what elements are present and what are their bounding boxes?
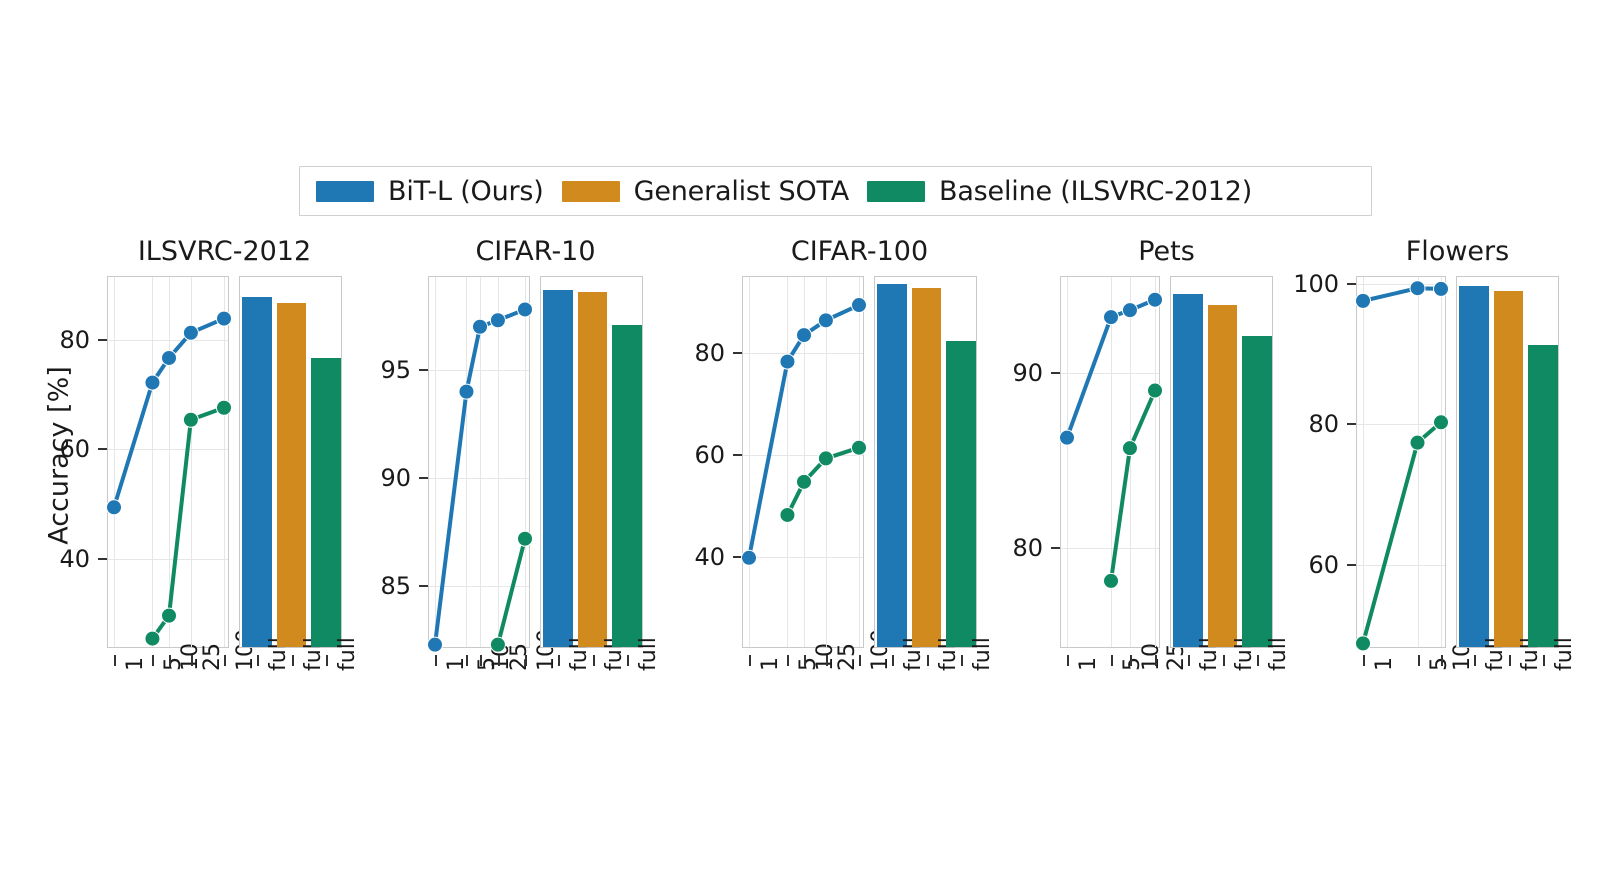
x-tick-mark xyxy=(826,655,828,666)
y-tick-mark xyxy=(419,369,428,371)
series-marker xyxy=(1434,281,1449,296)
x-tick-mark xyxy=(961,655,963,666)
series-marker xyxy=(217,311,232,326)
series-layer xyxy=(108,277,230,649)
series-marker xyxy=(1410,281,1425,296)
panel-title: Pets xyxy=(1060,236,1273,267)
x-tick-mark xyxy=(152,655,154,666)
x-tick-mark xyxy=(627,655,629,666)
y-tick-label: 90 xyxy=(973,359,1043,387)
series-marker xyxy=(518,531,533,546)
bar-axes: fullfullfull xyxy=(239,276,342,648)
series-marker xyxy=(1122,303,1137,318)
x-tick-mark xyxy=(1543,655,1545,666)
bar-axes: fullfullfull xyxy=(874,276,977,648)
panel-ilsvrc-2012: ILSVRC-2012151025100406080fullfullfull xyxy=(107,236,342,696)
series-marker xyxy=(107,500,122,515)
legend-label-generalist-sota: Generalist SOTA xyxy=(634,176,849,207)
series-marker xyxy=(797,474,812,489)
series-layer xyxy=(1357,277,1447,649)
bar-baseline-ilsvrc-2012 xyxy=(612,325,642,647)
x-tick-mark xyxy=(1188,655,1190,666)
series-layer xyxy=(429,277,531,649)
legend-item-generalist-sota[interactable]: Generalist SOTA xyxy=(562,176,849,207)
line-axes: 151025100859095 xyxy=(428,276,530,648)
series-marker xyxy=(1148,292,1163,307)
series-marker xyxy=(183,325,198,340)
series-marker xyxy=(1060,430,1075,445)
bar-axes: fullfullfull xyxy=(1170,276,1273,648)
series-marker xyxy=(818,451,833,466)
bar-baseline-ilsvrc-2012 xyxy=(311,358,341,647)
series-marker xyxy=(518,302,533,317)
bar-axes: fullfullfull xyxy=(1456,276,1559,648)
y-tick-label: 95 xyxy=(341,356,411,384)
y-tick-label: 40 xyxy=(655,543,725,571)
line-axes: 15106080100 xyxy=(1356,276,1446,648)
y-tick-mark xyxy=(733,556,742,558)
bar-bit-l-ours xyxy=(1173,294,1203,647)
bar-bit-l-ours xyxy=(1459,286,1489,647)
y-tick-label: 60 xyxy=(1269,551,1339,579)
series-marker xyxy=(217,400,232,415)
x-tick-mark xyxy=(292,655,294,666)
x-tick-mark xyxy=(257,655,259,666)
x-tick-label: full xyxy=(636,637,661,671)
series-marker xyxy=(780,354,795,369)
x-tick-mark xyxy=(749,655,751,666)
panel-title: ILSVRC-2012 xyxy=(107,236,342,267)
line-axes: 151025100406080 xyxy=(107,276,229,648)
y-tick-label: 60 xyxy=(655,441,725,469)
legend: BiT-L (Ours)Generalist SOTABaseline (ILS… xyxy=(299,166,1372,216)
x-tick-mark xyxy=(191,655,193,666)
series-marker xyxy=(459,384,474,399)
x-tick-label: 1 xyxy=(1076,657,1101,671)
series-marker xyxy=(852,298,867,313)
line-axes: 1510258090 xyxy=(1060,276,1160,648)
x-tick-label: 1 xyxy=(1372,657,1397,671)
y-tick-mark xyxy=(1347,283,1356,285)
y-tick-label: 80 xyxy=(20,326,90,354)
x-tick-mark xyxy=(1223,655,1225,666)
x-tick-mark xyxy=(787,655,789,666)
x-tick-mark xyxy=(1418,655,1420,666)
series-marker xyxy=(780,507,795,522)
series-marker xyxy=(490,313,505,328)
legend-label-bit-l-ours: BiT-L (Ours) xyxy=(388,176,544,207)
x-tick-mark xyxy=(525,655,527,666)
series-marker xyxy=(1410,435,1425,450)
y-tick-mark xyxy=(98,558,107,560)
bar-bit-l-ours xyxy=(242,297,272,647)
series-marker xyxy=(742,550,757,565)
panel-pets: Pets1510258090fullfullfull xyxy=(1060,236,1273,696)
x-tick-mark xyxy=(1111,655,1113,666)
y-tick-mark xyxy=(419,585,428,587)
x-tick-mark xyxy=(1441,655,1443,666)
y-tick-mark xyxy=(733,454,742,456)
y-tick-mark xyxy=(1051,372,1060,374)
y-tick-mark xyxy=(1347,423,1356,425)
bar-axes: fullfullfull xyxy=(540,276,643,648)
bar-baseline-ilsvrc-2012 xyxy=(1242,336,1272,647)
panel-title: Flowers xyxy=(1356,236,1559,267)
x-tick-mark xyxy=(1155,655,1157,666)
series-marker xyxy=(1356,636,1371,651)
bar-generalist-sota xyxy=(912,288,942,647)
bar-baseline-ilsvrc-2012 xyxy=(946,341,976,647)
y-tick-label: 80 xyxy=(655,339,725,367)
panel-title: CIFAR-100 xyxy=(742,236,977,267)
bar-generalist-sota xyxy=(1208,305,1238,647)
y-tick-label: 80 xyxy=(1269,410,1339,438)
series-marker xyxy=(797,328,812,343)
x-tick-label: full xyxy=(335,637,360,671)
line-axes: 151025100406080 xyxy=(742,276,864,648)
series-marker xyxy=(428,637,443,652)
x-tick-label: 1 xyxy=(123,657,148,671)
y-tick-label: 90 xyxy=(341,464,411,492)
x-tick-mark xyxy=(892,655,894,666)
series-marker xyxy=(1104,573,1119,588)
bar-generalist-sota xyxy=(578,292,608,647)
x-tick-mark xyxy=(480,655,482,666)
panel-flowers: Flowers15106080100fullfullfull xyxy=(1356,236,1559,696)
x-tick-mark xyxy=(498,655,500,666)
x-tick-mark xyxy=(169,655,171,666)
y-tick-label: 40 xyxy=(20,545,90,573)
series-marker xyxy=(852,440,867,455)
series-line xyxy=(1363,288,1441,301)
series-marker xyxy=(162,608,177,623)
series-marker xyxy=(473,319,488,334)
x-tick-mark xyxy=(466,655,468,666)
x-tick-mark xyxy=(326,655,328,666)
y-tick-mark xyxy=(1051,547,1060,549)
series-line xyxy=(498,539,525,645)
x-tick-label: full xyxy=(1266,637,1291,671)
x-tick-mark xyxy=(1130,655,1132,666)
legend-item-baseline-ilsvrc-2012[interactable]: Baseline (ILSVRC-2012) xyxy=(867,176,1252,207)
series-marker xyxy=(1122,441,1137,456)
panel-cifar-100: CIFAR-100151025100406080fullfullfull xyxy=(742,236,977,696)
x-tick-mark xyxy=(435,655,437,666)
x-tick-mark xyxy=(593,655,595,666)
x-tick-mark xyxy=(859,655,861,666)
x-tick-mark xyxy=(1363,655,1365,666)
series-marker xyxy=(818,313,833,328)
series-layer xyxy=(743,277,865,649)
series-marker xyxy=(183,412,198,427)
legend-item-bit-l-ours[interactable]: BiT-L (Ours) xyxy=(316,176,544,207)
series-marker xyxy=(1148,383,1163,398)
y-tick-mark xyxy=(98,339,107,341)
x-tick-label: 1 xyxy=(758,657,783,671)
legend-swatch-bit-l-ours xyxy=(316,181,374,202)
series-marker xyxy=(490,637,505,652)
legend-swatch-generalist-sota xyxy=(562,181,620,202)
series-marker xyxy=(1434,415,1449,430)
y-tick-mark xyxy=(98,448,107,450)
legend-swatch-baseline-ilsvrc-2012 xyxy=(867,181,925,202)
x-tick-label: 5 xyxy=(1427,657,1452,671)
legend-label-baseline-ilsvrc-2012: Baseline (ILSVRC-2012) xyxy=(939,176,1252,207)
x-tick-mark xyxy=(1067,655,1069,666)
x-tick-mark xyxy=(558,655,560,666)
x-tick-label: full xyxy=(970,637,995,671)
x-tick-mark xyxy=(927,655,929,666)
y-tick-label: 80 xyxy=(973,534,1043,562)
series-marker xyxy=(162,350,177,365)
panel-title: CIFAR-10 xyxy=(428,236,643,267)
y-tick-label: 100 xyxy=(1269,270,1339,298)
x-tick-mark xyxy=(804,655,806,666)
series-marker xyxy=(1356,293,1371,308)
y-tick-label: 85 xyxy=(341,572,411,600)
bar-bit-l-ours xyxy=(877,284,907,647)
series-marker xyxy=(1104,310,1119,325)
bar-generalist-sota xyxy=(277,303,307,647)
x-tick-mark xyxy=(1509,655,1511,666)
bar-generalist-sota xyxy=(1494,291,1524,647)
y-tick-mark xyxy=(1347,564,1356,566)
y-tick-mark xyxy=(419,477,428,479)
series-line xyxy=(1111,391,1155,581)
series-marker xyxy=(145,375,160,390)
x-tick-label: full xyxy=(1552,637,1577,671)
x-tick-mark xyxy=(114,655,116,666)
y-tick-mark xyxy=(733,352,742,354)
x-tick-mark xyxy=(1257,655,1259,666)
x-tick-mark xyxy=(1474,655,1476,666)
y-tick-label: 60 xyxy=(20,435,90,463)
series-marker xyxy=(145,631,160,646)
series-layer xyxy=(1061,277,1161,649)
panel-cifar-10: CIFAR-10151025100859095fullfullfull xyxy=(428,236,643,696)
series-line xyxy=(152,408,224,639)
bar-baseline-ilsvrc-2012 xyxy=(1528,345,1558,647)
figure-canvas: Accuracy [%] BiT-L (Ours)Generalist SOTA… xyxy=(0,0,1600,891)
series-line xyxy=(1363,422,1441,643)
bar-bit-l-ours xyxy=(543,290,573,647)
x-tick-mark xyxy=(224,655,226,666)
